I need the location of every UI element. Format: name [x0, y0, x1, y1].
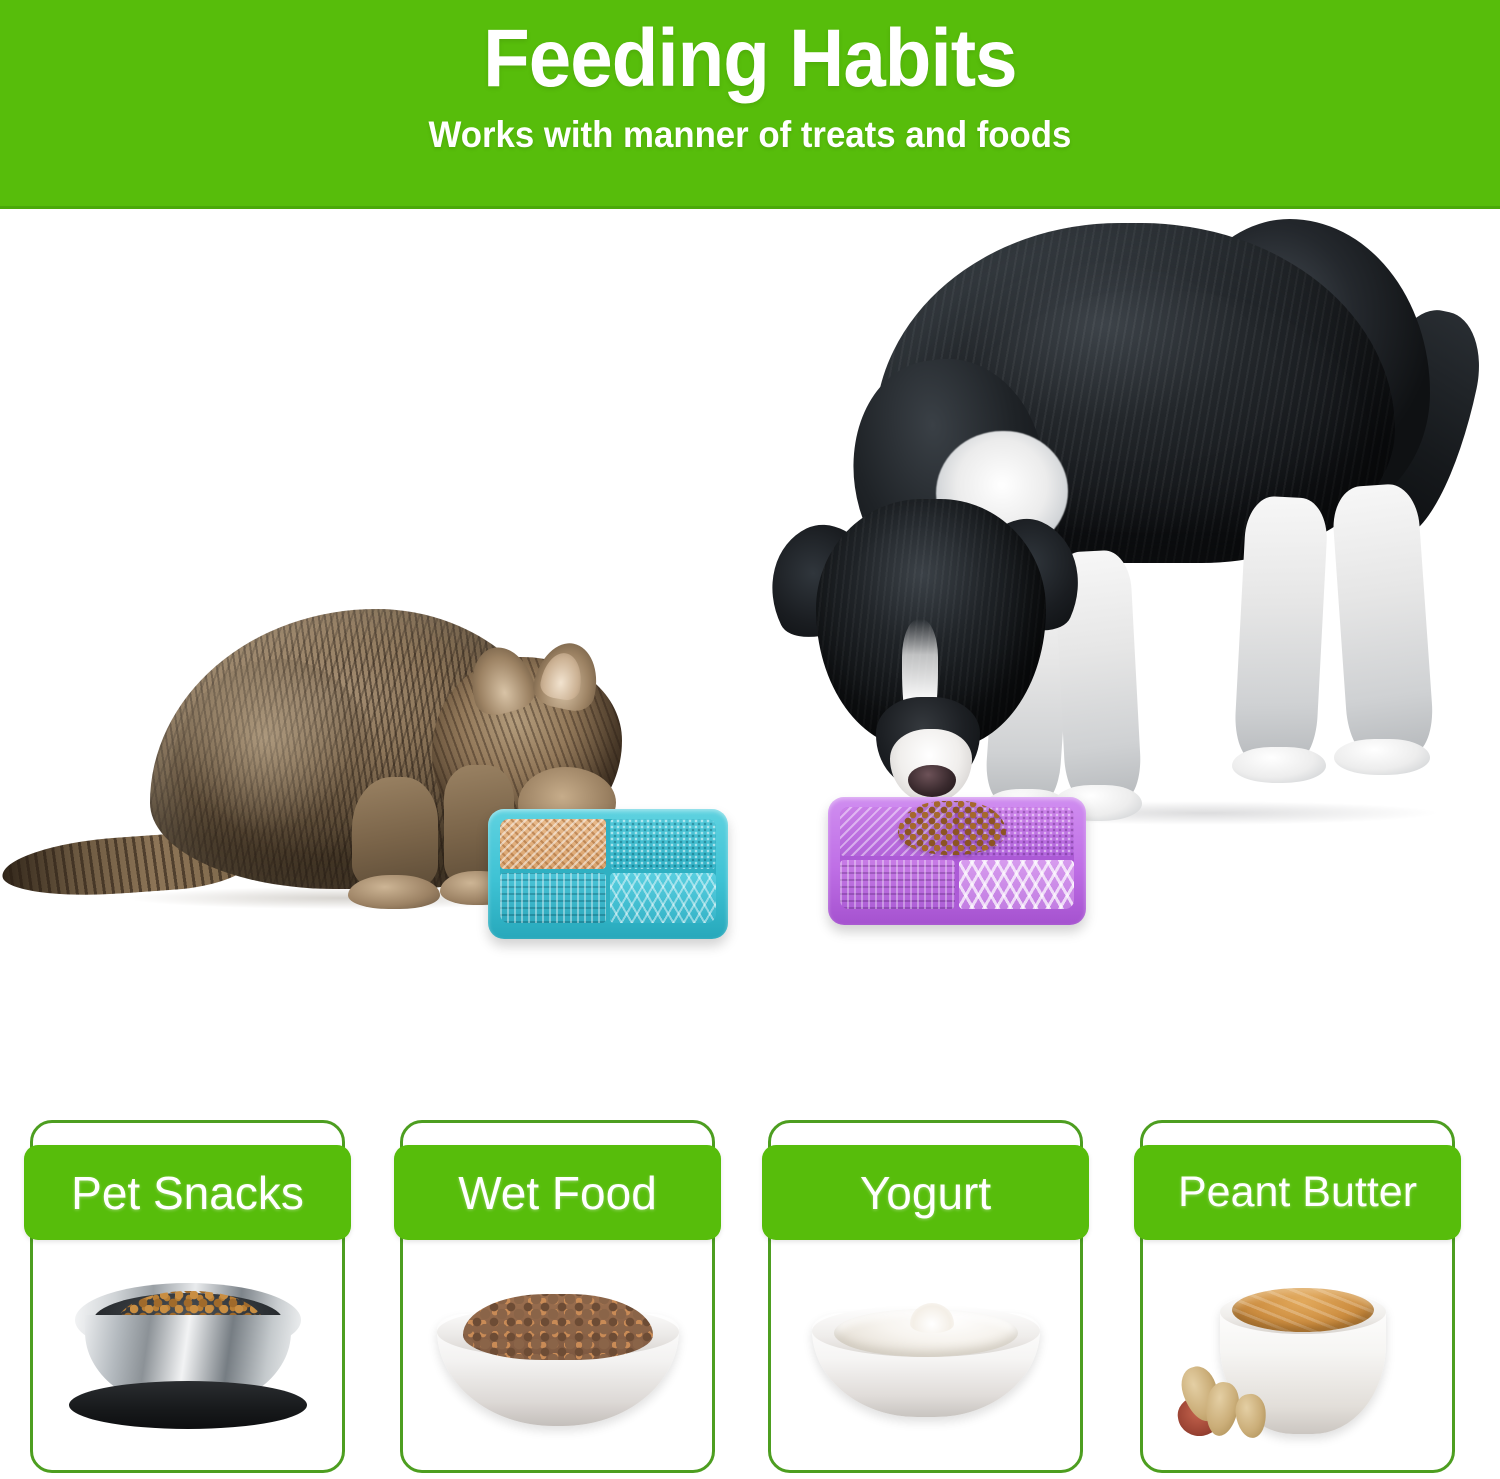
- card-label-text: Pet Snacks: [71, 1166, 304, 1220]
- purple-mat-quadrant-wave: [840, 860, 955, 909]
- bowl-base: [69, 1381, 307, 1429]
- card-label-bar: Pet Snacks: [24, 1145, 351, 1240]
- cat-rear-leg: [352, 777, 438, 889]
- teal-mat-quadrant-bump: [610, 819, 716, 869]
- card-label-bar: Yogurt: [762, 1145, 1089, 1240]
- peanut-butter-bowl-icon: [1148, 1248, 1447, 1466]
- wet-meat-icon: [463, 1294, 653, 1360]
- teal-lick-mat: [488, 809, 728, 939]
- food-card-peanut-butter[interactable]: Peant Butter: [1140, 1120, 1455, 1475]
- teal-mat-surface: [500, 819, 716, 923]
- purple-mat-quadrant-hex: [959, 860, 1074, 909]
- food-card-yogurt[interactable]: Yogurt: [768, 1120, 1083, 1475]
- dog-back-paw-left: [1232, 747, 1326, 783]
- peanut-butter-icon: [1232, 1288, 1374, 1332]
- wet-food-dish-icon: [408, 1248, 707, 1466]
- kibble-pile-icon: [898, 801, 1006, 855]
- teal-mat-quadrant-hex: [610, 873, 716, 923]
- wet-food-dish: [433, 1280, 683, 1435]
- product-feature-image: Feeding Habits Works with manner of trea…: [0, 0, 1500, 1479]
- cat-rear-paw: [348, 875, 440, 909]
- card-label-text: Peant Butter: [1178, 1168, 1417, 1217]
- peanut-butter-bowl: [1178, 1270, 1418, 1445]
- card-label-text: Yogurt: [860, 1166, 991, 1220]
- card-label-text: Wet Food: [458, 1166, 657, 1220]
- food-card-pet-snacks[interactable]: Pet Snacks: [30, 1120, 345, 1475]
- yogurt-bowl: [806, 1287, 1046, 1427]
- dog-food-bowl-icon: [38, 1248, 337, 1466]
- hero-scene: [0, 209, 1500, 1110]
- page-subtitle: Works with manner of treats and foods: [429, 114, 1072, 156]
- header-banner: Feeding Habits Works with manner of trea…: [0, 0, 1500, 209]
- yogurt-bowl-icon: [776, 1248, 1075, 1466]
- stainless-steel-bowl: [63, 1277, 313, 1437]
- dog-back-leg-left: [1233, 495, 1329, 764]
- card-label-bar: Wet Food: [394, 1145, 721, 1240]
- dog-back-paw-right: [1334, 739, 1430, 775]
- teal-mat-quadrant-wave: [500, 873, 606, 923]
- food-card-wet-food[interactable]: Wet Food: [400, 1120, 715, 1475]
- page-title: Feeding Habits: [483, 14, 1017, 104]
- teal-mat-quadrant-chevron: [500, 819, 606, 869]
- food-type-cards: Pet Snacks Wet Food: [0, 1110, 1500, 1479]
- card-label-bar: Peant Butter: [1134, 1145, 1461, 1240]
